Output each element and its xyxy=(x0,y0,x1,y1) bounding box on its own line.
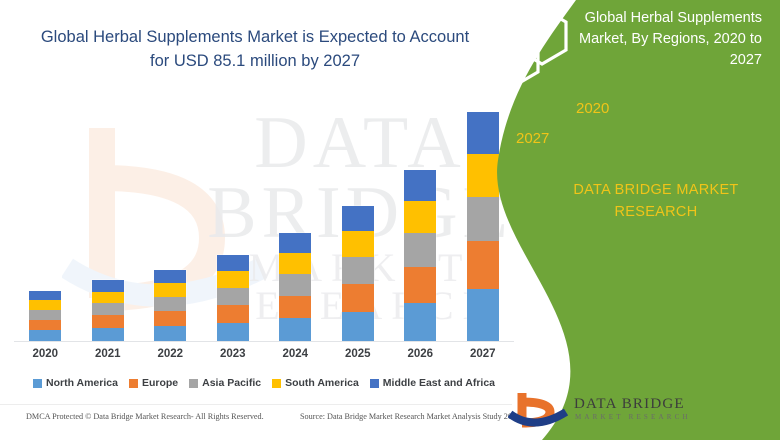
x-tick-2025: 2025 xyxy=(327,348,389,370)
legend-label: North America xyxy=(46,377,118,389)
bar-segment[interactable] xyxy=(154,297,186,311)
legend-item-asia-pacific[interactable]: Asia Pacific xyxy=(189,377,261,389)
bar-segment[interactable] xyxy=(217,305,249,323)
legend-item-europe[interactable]: Europe xyxy=(129,377,178,389)
logo-subtitle: MARKET RESEARCH xyxy=(575,413,691,421)
legend-item-south-america[interactable]: South America xyxy=(272,377,359,389)
brand-panel: Global Herbal Supplements Market, By Reg… xyxy=(480,0,780,440)
bar-segment[interactable] xyxy=(342,231,374,257)
bar-segment[interactable] xyxy=(404,170,436,201)
bar-group-2023 xyxy=(202,100,264,341)
bar-group-2026 xyxy=(389,100,451,341)
bar-segment[interactable] xyxy=(279,233,311,253)
bar-segment[interactable] xyxy=(29,310,61,320)
chart-title-line-2: for USD 85.1 million by 2027 xyxy=(30,50,480,74)
legend-swatch-icon xyxy=(370,379,379,388)
bar-segment[interactable] xyxy=(342,284,374,312)
bar-segment[interactable] xyxy=(217,255,249,271)
hexagon-label-2027: 2027 xyxy=(516,130,549,147)
x-tick-2023: 2023 xyxy=(202,348,264,370)
x-tick-2026: 2026 xyxy=(389,348,451,370)
bar-segment[interactable] xyxy=(279,274,311,296)
bar-segment[interactable] xyxy=(29,300,61,310)
x-axis-tick-labels: 20202021202220232024202520262027 xyxy=(14,348,514,370)
legend-swatch-icon xyxy=(33,379,42,388)
bar-segment[interactable] xyxy=(342,206,374,231)
x-tick-2024: 2024 xyxy=(264,348,326,370)
bar-segment[interactable] xyxy=(29,291,61,300)
hexagon-label-2020: 2020 xyxy=(576,100,609,117)
bar-group-2024 xyxy=(264,100,326,341)
bar-segment[interactable] xyxy=(279,253,311,274)
panel-brand-line-2: RESEARCH xyxy=(536,202,776,224)
bar-segment[interactable] xyxy=(404,233,436,267)
legend-item-north-america[interactable]: North America xyxy=(33,377,118,389)
bar-segment[interactable] xyxy=(279,296,311,318)
bar-segment[interactable] xyxy=(154,311,186,326)
hexagon-pair-icon xyxy=(480,0,630,96)
bar-segment[interactable] xyxy=(217,288,249,305)
bar-segment[interactable] xyxy=(154,283,186,297)
x-tick-2021: 2021 xyxy=(77,348,139,370)
bar-segment[interactable] xyxy=(342,312,374,341)
stacked-bar-plot xyxy=(14,100,514,341)
legend-swatch-icon xyxy=(189,379,198,388)
footer-copyright: DMCA Protected © Data Bridge Market Rese… xyxy=(26,412,264,421)
bar-group-2020 xyxy=(14,100,76,341)
panel-brand-line-1: DATA BRIDGE MARKET xyxy=(536,180,776,202)
company-logo: DATA BRIDGE MARKET RESEARCH xyxy=(508,390,708,434)
bar-group-2021 xyxy=(77,100,139,341)
chart-legend: North AmericaEuropeAsia PacificSouth Ame… xyxy=(14,375,514,391)
legend-swatch-icon xyxy=(129,379,138,388)
stacked-bar[interactable] xyxy=(404,170,436,341)
legend-item-middle-east-and-africa[interactable]: Middle East and Africa xyxy=(370,377,495,389)
bar-segment[interactable] xyxy=(92,303,124,315)
stacked-bar[interactable] xyxy=(154,270,186,341)
bar-segment[interactable] xyxy=(92,292,124,304)
bar-segment[interactable] xyxy=(92,280,124,291)
bar-segment[interactable] xyxy=(342,257,374,284)
bar-segment[interactable] xyxy=(29,320,61,330)
bar-segment[interactable] xyxy=(279,318,311,341)
bar-segment[interactable] xyxy=(404,201,436,233)
footer-divider xyxy=(0,404,512,405)
bar-group-2025 xyxy=(327,100,389,341)
bar-segment[interactable] xyxy=(404,267,436,302)
stacked-bar[interactable] xyxy=(217,255,249,341)
bar-segment[interactable] xyxy=(217,323,249,341)
stacked-bar[interactable] xyxy=(92,280,124,341)
legend-label: Europe xyxy=(142,377,178,389)
bar-group-2022 xyxy=(139,100,201,341)
x-tick-2022: 2022 xyxy=(139,348,201,370)
legend-swatch-icon xyxy=(272,379,281,388)
legend-label: Asia Pacific xyxy=(202,377,261,389)
legend-label: South America xyxy=(285,377,359,389)
chart-title: Global Herbal Supplements Market is Expe… xyxy=(30,26,480,74)
infographic-root: DATA BRIDGE MARKET RESEARCH Global Herba… xyxy=(0,0,780,440)
bar-segment[interactable] xyxy=(154,326,186,341)
data-bridge-logo-icon xyxy=(508,390,570,432)
x-tick-2020: 2020 xyxy=(14,348,76,370)
bar-segment[interactable] xyxy=(92,315,124,328)
x-axis-line xyxy=(14,341,514,342)
panel-brand-name: DATA BRIDGE MARKET RESEARCH xyxy=(536,180,776,224)
bar-segment[interactable] xyxy=(404,303,436,341)
legend-label: Middle East and Africa xyxy=(383,377,495,389)
stacked-bar[interactable] xyxy=(342,206,374,341)
footer: DMCA Protected © Data Bridge Market Rese… xyxy=(0,412,540,432)
bar-segment[interactable] xyxy=(92,328,124,341)
bar-segment[interactable] xyxy=(217,271,249,288)
logo-wordmark: DATA BRIDGE xyxy=(574,396,685,413)
stacked-bar[interactable] xyxy=(29,291,61,341)
chart-title-line-1: Global Herbal Supplements Market is Expe… xyxy=(30,26,480,50)
stacked-bar[interactable] xyxy=(279,233,311,341)
bar-segment[interactable] xyxy=(29,330,61,341)
bar-segment[interactable] xyxy=(154,270,186,283)
